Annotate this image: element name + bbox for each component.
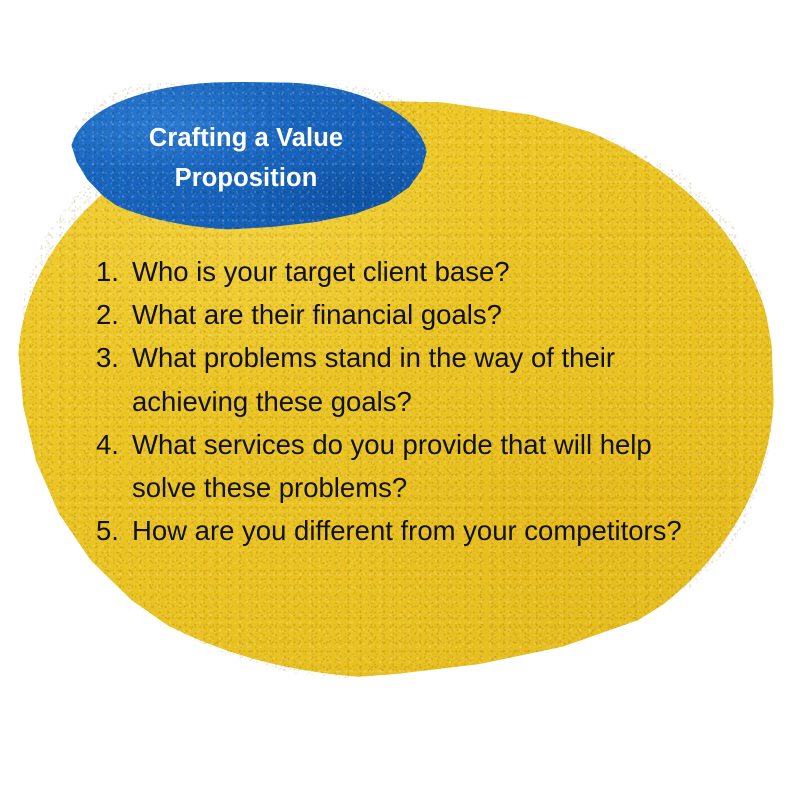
list-item-text: What are their financial goals? bbox=[132, 293, 716, 336]
list-item-text: How are you different from your competit… bbox=[132, 509, 716, 552]
list-item-text: What problems stand in the way of their … bbox=[132, 336, 716, 422]
list-item-text: What services do you provide that will h… bbox=[132, 423, 716, 509]
list-item-marker: 5. bbox=[96, 509, 126, 552]
slide-title: Crafting a Value Proposition bbox=[96, 118, 396, 198]
slide-canvas: Crafting a Value Proposition 1. Who is y… bbox=[0, 0, 800, 800]
list-item-text: Who is your target client base? bbox=[132, 250, 716, 293]
question-list: 1. Who is your target client base? 2. Wh… bbox=[96, 250, 716, 552]
list-item: 3. What problems stand in the way of the… bbox=[96, 336, 716, 422]
list-item: 1. Who is your target client base? bbox=[96, 250, 716, 293]
list-item-marker: 2. bbox=[96, 293, 126, 336]
list-item-marker: 4. bbox=[96, 423, 126, 466]
list-item-marker: 1. bbox=[96, 250, 126, 293]
list-item: 4. What services do you provide that wil… bbox=[96, 423, 716, 509]
list-item: 5. How are you different from your compe… bbox=[96, 509, 716, 552]
list-item-marker: 3. bbox=[96, 336, 126, 379]
list-item: 2. What are their financial goals? bbox=[96, 293, 716, 336]
slide-title-line-2: Proposition bbox=[96, 158, 396, 198]
slide-title-line-1: Crafting a Value bbox=[96, 118, 396, 158]
